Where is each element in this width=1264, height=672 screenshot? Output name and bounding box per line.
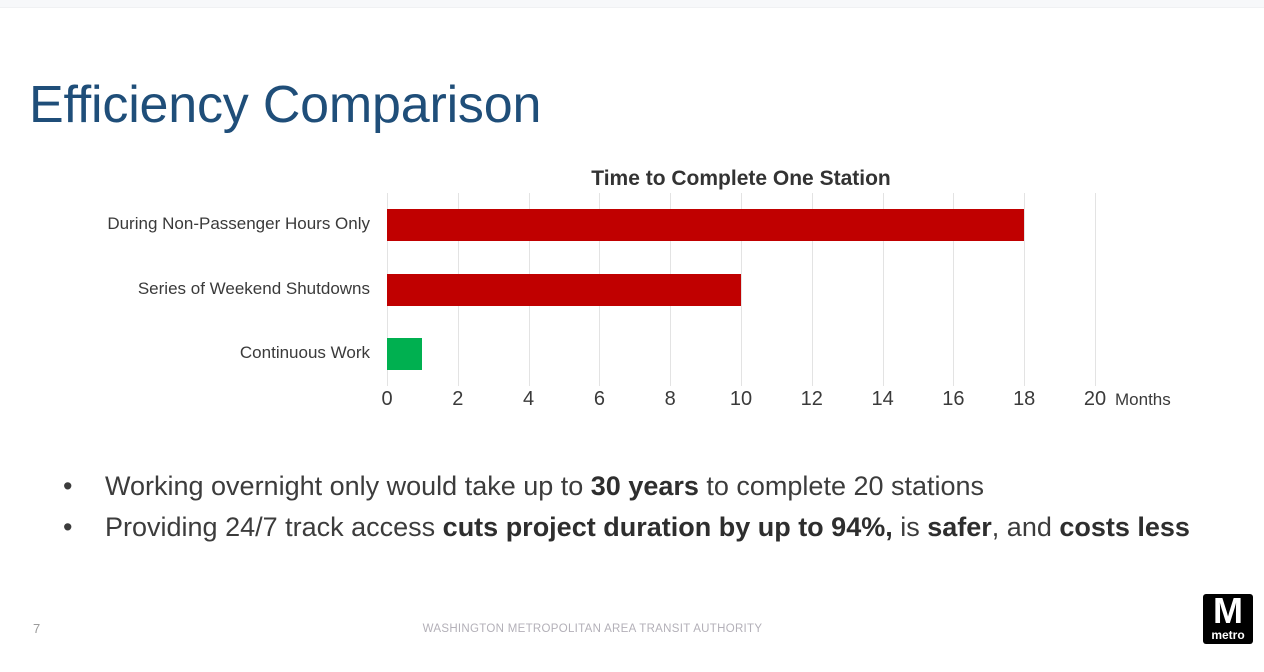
chart-bar: [387, 338, 422, 370]
bullet-marker: •: [63, 507, 72, 548]
chart-category-label: Continuous Work: [0, 343, 370, 363]
chart-x-tick-label: 12: [801, 388, 823, 411]
chart-category-label: During Non-Passenger Hours Only: [0, 214, 370, 234]
chart-bar-row: [387, 338, 1095, 370]
chart-category-label: Series of Weekend Shutdowns: [0, 279, 370, 299]
page-title: Efficiency Comparison: [29, 75, 541, 135]
chart-bar: [387, 209, 1024, 241]
chart-x-tick-label: 20: [1084, 388, 1106, 411]
chart-container: Time to Complete One Station During Non-…: [0, 160, 1264, 430]
bullet-marker: •: [63, 466, 72, 507]
chart-x-tick-label: 4: [523, 388, 534, 411]
bullet-item: •Working overnight only would take up to…: [57, 466, 1217, 507]
chart-x-tick-label: 2: [452, 388, 463, 411]
chart-x-tick-label: 10: [730, 388, 752, 411]
bullet-emphasis: cuts project duration by up to 94%,: [443, 512, 893, 542]
chart-x-tick-label: 8: [665, 388, 676, 411]
chart-x-tick-label: 6: [594, 388, 605, 411]
bullet-text: Providing 24/7 track access: [105, 512, 443, 542]
chart-title: Time to Complete One Station: [387, 167, 1095, 191]
chart-x-tick-label: 16: [942, 388, 964, 411]
chart-bar-row: [387, 274, 1095, 306]
bullet-emphasis: safer: [927, 512, 992, 542]
chart-bar: [387, 274, 741, 306]
chart-x-axis: 02468101214161820: [387, 388, 1095, 418]
chart-x-tick-label: 14: [871, 388, 893, 411]
bullet-emphasis: 30 years: [591, 471, 699, 501]
bullet-text: is: [893, 512, 928, 542]
bullet-emphasis: costs less: [1059, 512, 1190, 542]
footer-organization: WASHINGTON METROPOLITAN AREA TRANSIT AUT…: [0, 623, 1185, 635]
metro-logo: M metro: [1203, 594, 1253, 644]
chart-x-tick-label: 18: [1013, 388, 1035, 411]
window-top-strip: [0, 0, 1264, 8]
metro-m-mark: M: [1203, 594, 1253, 631]
chart-plot-area: [387, 193, 1095, 386]
chart-bar-row: [387, 209, 1095, 241]
metro-wordmark: metro: [1203, 629, 1253, 641]
chart-category-axis: During Non-Passenger Hours OnlySeries of…: [0, 193, 370, 386]
bullet-text: Working overnight only would take up to: [105, 471, 591, 501]
chart-x-tick-label: 0: [381, 388, 392, 411]
bullet-text: , and: [992, 512, 1060, 542]
chart-gridline: [1095, 193, 1096, 386]
x-axis-unit-label: Months: [1115, 390, 1171, 410]
bullet-list: •Working overnight only would take up to…: [57, 466, 1217, 548]
bullet-item: •Providing 24/7 track access cuts projec…: [57, 507, 1217, 548]
bullet-text: to complete 20 stations: [699, 471, 984, 501]
